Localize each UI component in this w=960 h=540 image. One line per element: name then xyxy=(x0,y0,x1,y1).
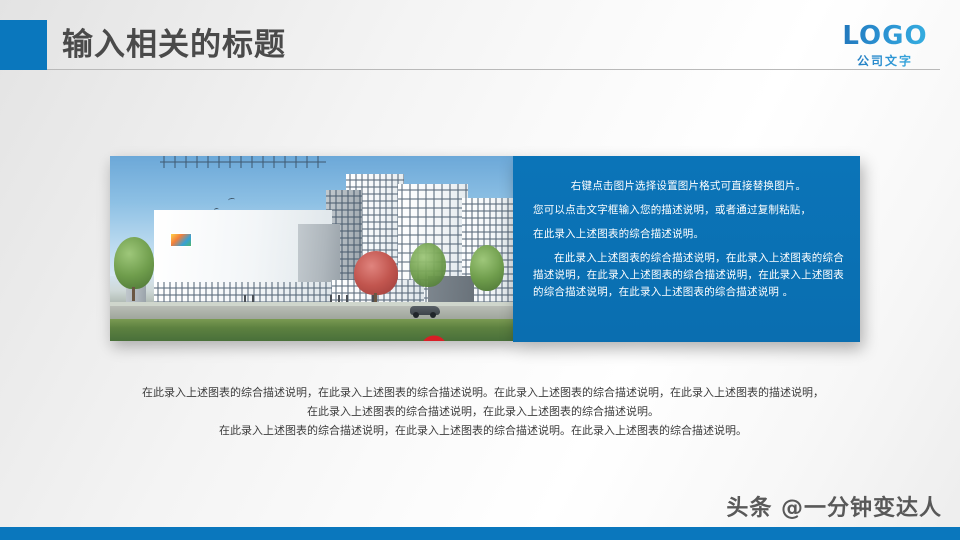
facade-signboard xyxy=(170,233,192,247)
photo-grass xyxy=(110,319,514,341)
logo: LOGO 公司文字 xyxy=(830,22,940,69)
tree-trunk xyxy=(132,287,135,301)
page-title: 输入相关的标题 xyxy=(62,23,286,67)
description-panel[interactable]: 右键点击图片选择设置图片格式可直接替换图片。 您可以点击文字框输入您的描述说明，… xyxy=(513,156,860,342)
header-accent-block xyxy=(0,20,47,70)
tree-icon xyxy=(410,243,446,287)
car-icon xyxy=(410,306,440,315)
slide-canvas: 输入相关的标题 LOGO 公司文字 xyxy=(0,0,960,540)
tree-icon xyxy=(470,245,504,291)
caption-line-2: 在此录入上述图表的综合描述说明，在此录入上述图表的综合描述说明。 xyxy=(108,402,858,421)
person-figure xyxy=(338,295,340,302)
map-pin-icon[interactable] xyxy=(419,334,449,341)
roof-vent-grid xyxy=(160,156,326,168)
person-figure xyxy=(372,295,374,302)
person-figure xyxy=(252,295,254,302)
caption-line-3: 在此录入上述图表的综合描述说明，在此录入上述图表的综合描述说明。在此录入上述图表… xyxy=(108,421,858,440)
caption-block[interactable]: 在此录入上述图表的综合描述说明，在此录入上述图表的综合描述说明。在此录入上述图表… xyxy=(108,383,858,440)
logo-sub-text: 公司文字 xyxy=(830,53,940,69)
panel-paragraph: 在此录入上述图表的综合描述说明，在此录入上述图表的综合描述说明，在此录入上述图表… xyxy=(533,250,844,301)
watermark-text: 头条 @一分钟变达人 xyxy=(726,490,942,522)
tree-icon-autumn xyxy=(354,251,398,295)
person-figure xyxy=(330,295,332,302)
panel-line-1: 右键点击图片选择设置图片格式可直接替换图片。 xyxy=(533,178,844,195)
footer-bar xyxy=(0,527,960,540)
logo-main-text: LOGO xyxy=(830,22,940,50)
header-divider xyxy=(47,69,940,70)
window-grid xyxy=(154,282,332,302)
panel-line-2: 您可以点击文字框输入您的描述说明，或者通过复制粘贴， xyxy=(533,202,844,219)
tree-icon xyxy=(114,237,154,289)
panel-line-3: 在此录入上述图表的综合描述说明。 xyxy=(533,226,844,243)
photo-road xyxy=(110,306,514,319)
caption-line-1: 在此录入上述图表的综合描述说明，在此录入上述图表的综合描述说明。在此录入上述图表… xyxy=(108,383,858,402)
building-podium xyxy=(154,282,332,302)
person-figure xyxy=(346,295,348,302)
person-figure xyxy=(244,295,246,302)
photo-card[interactable] xyxy=(110,156,514,341)
